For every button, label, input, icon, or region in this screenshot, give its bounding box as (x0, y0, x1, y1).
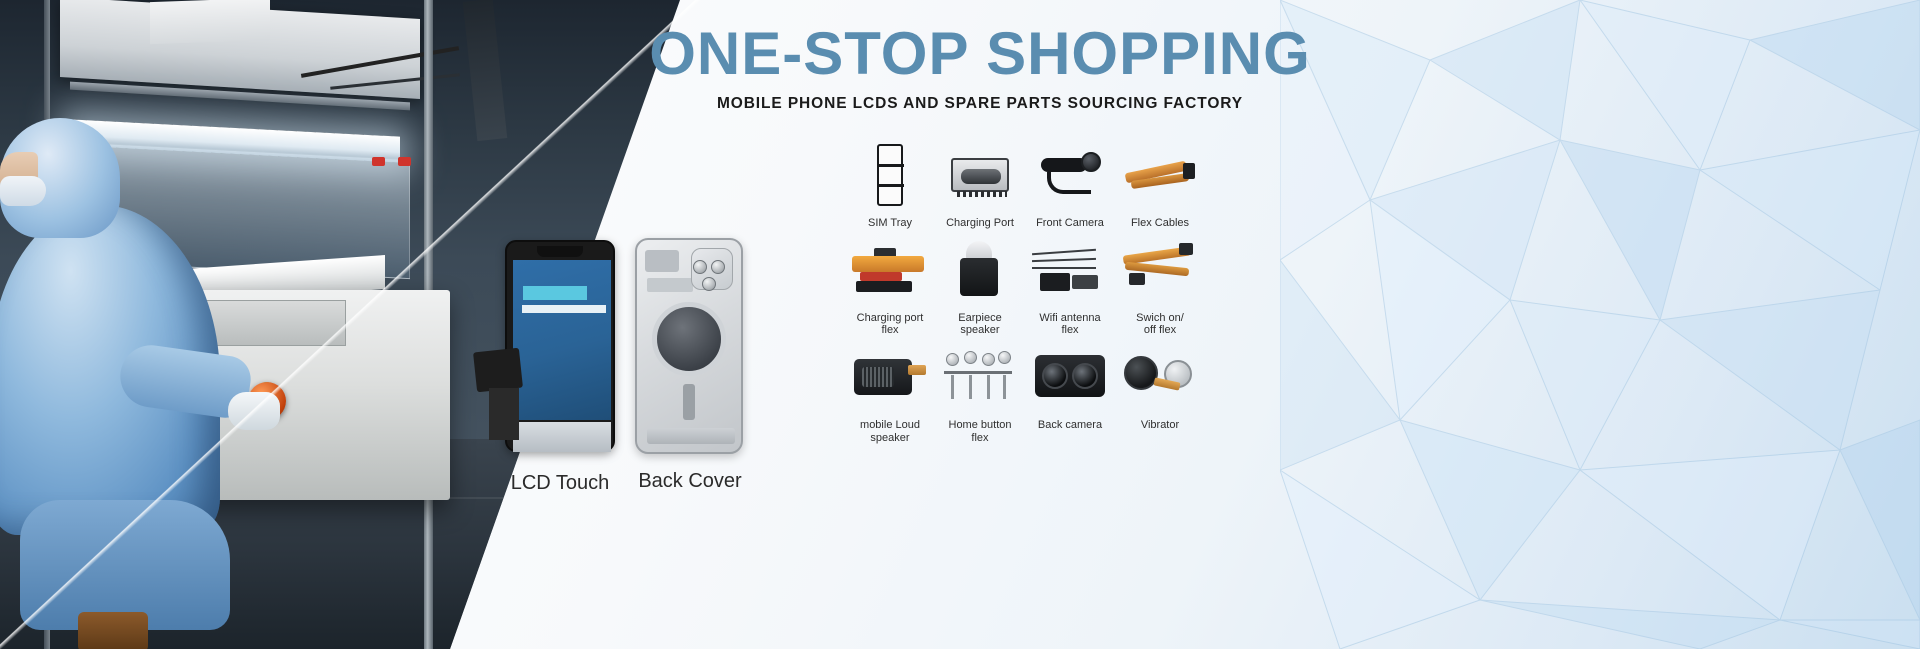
notch-detail (537, 246, 583, 257)
loudspeaker-icon (848, 337, 932, 417)
spare-parts-grid: SIM Tray Charging Port Front Camera Flex… (845, 135, 1205, 444)
part-sim-tray[interactable]: SIM Tray (845, 135, 935, 230)
lcd-bottom-detail (513, 422, 611, 452)
part-label: Charging port flex (857, 312, 924, 337)
promotional-banner: ONE-STOP SHOPPING MOBILE PHONE LCDS AND … (0, 0, 1920, 649)
part-label: Vibrator (1141, 419, 1179, 432)
part-front-camera[interactable]: Front Camera (1025, 135, 1115, 230)
part-label: Flex Cables (1131, 217, 1189, 230)
part-vibrator[interactable]: Vibrator (1115, 337, 1205, 444)
wifi-antenna-icon (1028, 230, 1112, 310)
part-wifi-antenna-flex[interactable]: Wifi antenna flex (1025, 230, 1115, 337)
part-swich-on-off-flex[interactable]: Swich on/ off flex (1115, 230, 1205, 337)
featured-product-label: Back Cover (638, 470, 741, 493)
back-cover-image (635, 238, 743, 454)
part-label: SIM Tray (868, 217, 912, 230)
parts-row-1: SIM Tray Charging Port Front Camera Flex… (845, 135, 1205, 230)
part-label: Front Camera (1036, 217, 1104, 230)
parts-row-2: Charging port flex Earpiece speaker Wifi… (845, 230, 1205, 337)
part-label: Swich on/ off flex (1136, 312, 1184, 337)
part-charging-port[interactable]: Charging Port (935, 135, 1025, 230)
power-flex-icon (1118, 230, 1202, 310)
vibrator-icon (1118, 337, 1202, 417)
charging-port-flex-icon (848, 230, 932, 310)
home-button-icon (938, 337, 1022, 417)
lcd-flex2-detail (489, 388, 519, 440)
headline-block: ONE-STOP SHOPPING MOBILE PHONE LCDS AND … (560, 22, 1400, 113)
part-back-camera[interactable]: Back camera (1025, 337, 1115, 444)
part-flex-cables[interactable]: Flex Cables (1115, 135, 1205, 230)
camera-module-detail (691, 248, 733, 290)
flex-cable-icon (1118, 135, 1202, 215)
part-charging-port-flex[interactable]: Charging port flex (845, 230, 935, 337)
parts-row-3: mobile Loud speaker Home button flex Bac… (845, 337, 1205, 444)
back-camera-icon (1028, 337, 1112, 417)
part-label: Wifi antenna flex (1039, 312, 1100, 337)
part-home-button-flex[interactable]: Home button flex (935, 337, 1025, 444)
lcd-touch-image (505, 240, 615, 452)
earpiece-speaker-icon (938, 230, 1022, 310)
part-label: Home button flex (949, 419, 1012, 444)
part-label: mobile Loud speaker (860, 419, 920, 444)
page-subtitle: MOBILE PHONE LCDS AND SPARE PARTS SOURCI… (560, 95, 1400, 113)
part-earpiece-speaker[interactable]: Earpiece speaker (935, 230, 1025, 337)
page-title: ONE-STOP SHOPPING (560, 22, 1400, 85)
part-label: Back camera (1038, 419, 1102, 432)
front-camera-icon (1028, 135, 1112, 215)
featured-product-back-cover[interactable]: Back Cover (635, 238, 745, 458)
sim-tray-icon (848, 135, 932, 215)
featured-product-label: LCD Touch (511, 472, 610, 495)
part-label: Charging Port (946, 217, 1014, 230)
charging-port-icon (938, 135, 1022, 215)
featured-product-lcd-touch[interactable]: LCD Touch (505, 240, 615, 455)
part-mobile-loud-speaker[interactable]: mobile Loud speaker (845, 337, 935, 444)
lcd-flex-detail (473, 348, 523, 393)
magsafe-coil-detail (652, 302, 726, 376)
screen-detail (513, 260, 611, 420)
part-label: Earpiece speaker (958, 312, 1001, 337)
